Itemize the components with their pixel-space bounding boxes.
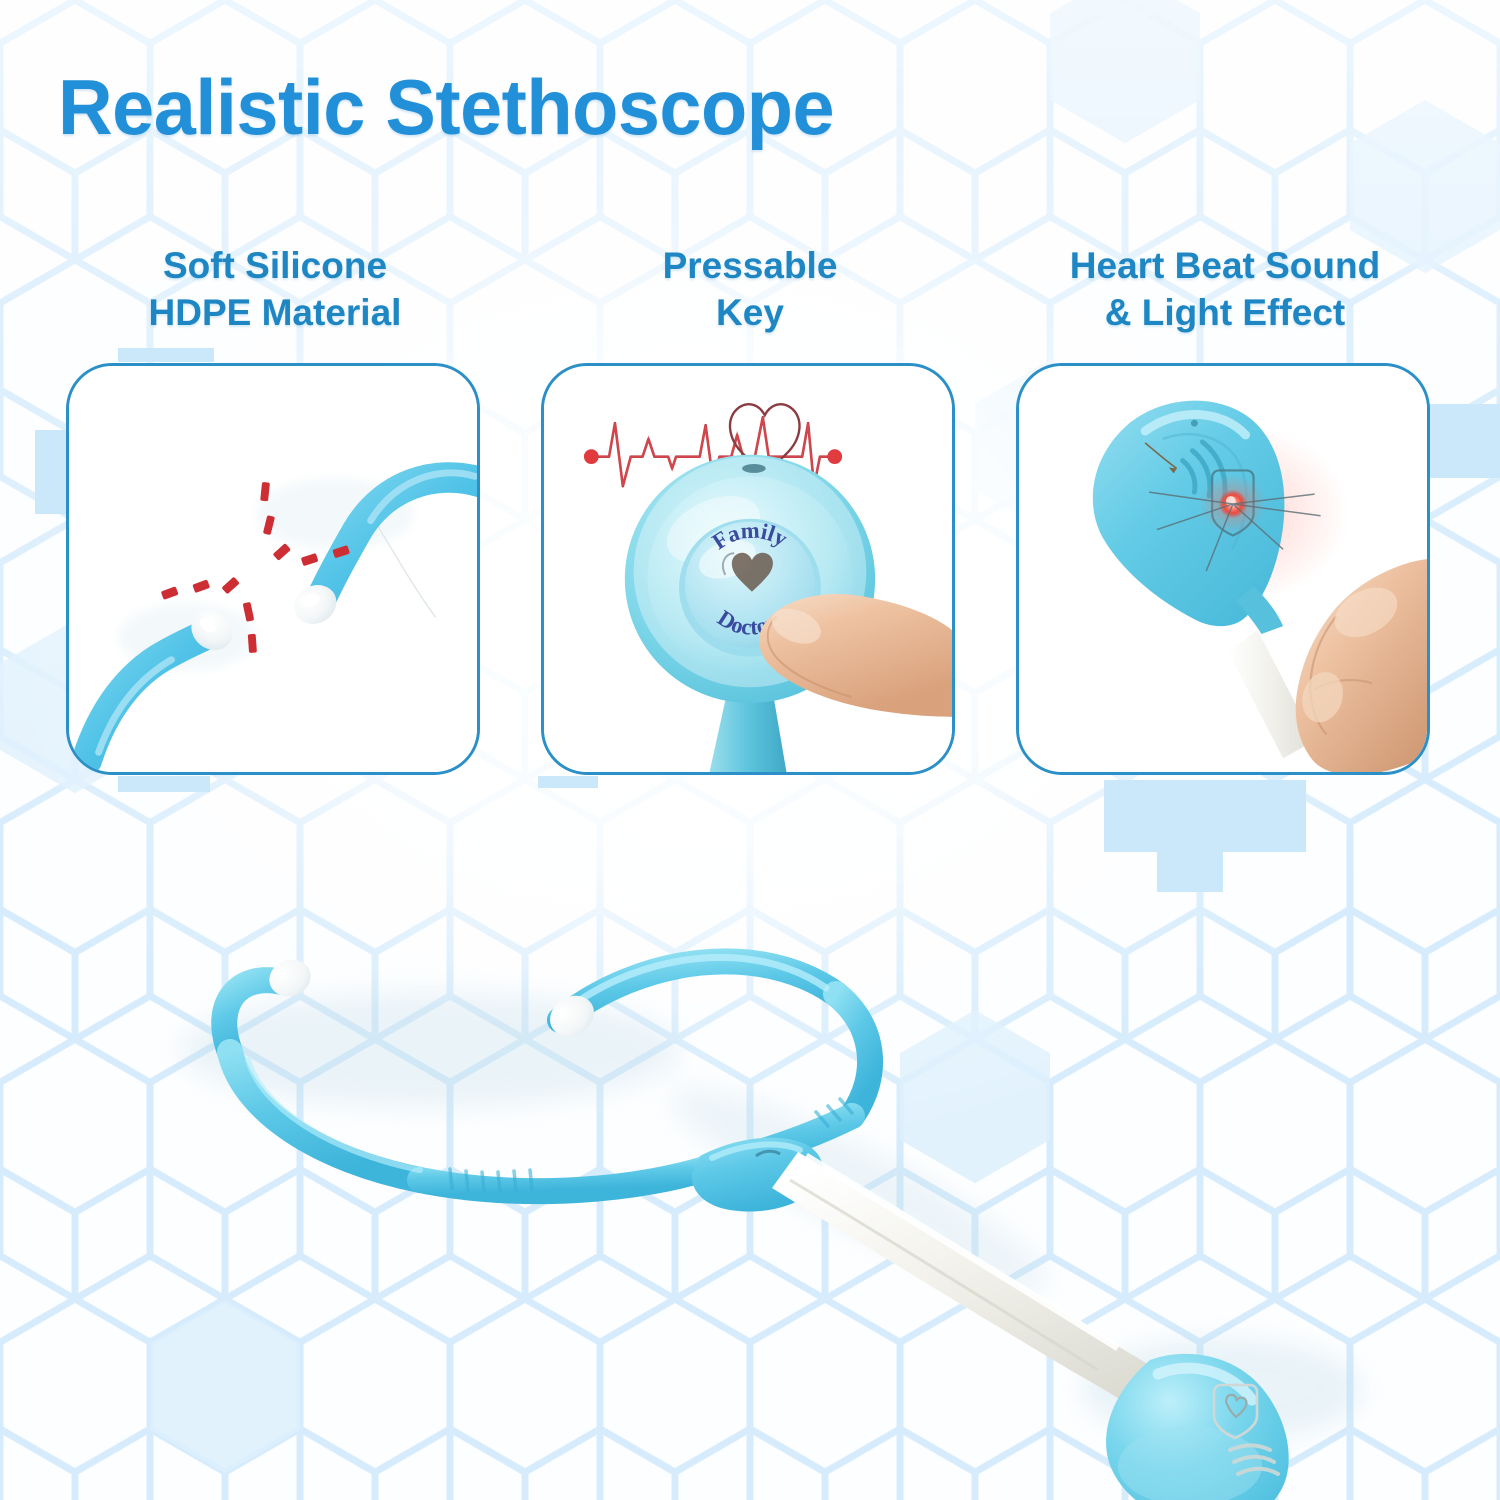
feature-label-pressable-key: Pressable Key bbox=[540, 243, 960, 336]
panel-3-illustration bbox=[1019, 366, 1427, 772]
stethoscope-product-photo bbox=[0, 760, 1500, 1500]
panel-1-illustration bbox=[69, 366, 477, 772]
feature-label-line-2: Key bbox=[540, 290, 960, 337]
feature-label-line-2: HDPE Material bbox=[60, 290, 490, 337]
panel-soft-silicone bbox=[66, 363, 480, 775]
stethoscope-tube bbox=[772, 1152, 1164, 1412]
panel-heartbeat-light bbox=[1016, 363, 1430, 775]
feature-label-line-1: Heart Beat Sound bbox=[1000, 243, 1450, 290]
feature-label-heartbeat-light: Heart Beat Sound & Light Effect bbox=[1000, 243, 1450, 336]
feature-label-line-2: & Light Effect bbox=[1000, 290, 1450, 337]
feature-label-line-1: Soft Silicone bbox=[60, 243, 490, 290]
feature-label-soft-silicone: Soft Silicone HDPE Material bbox=[60, 243, 490, 336]
infographic-canvas: Realistic Stethoscope Soft Silicone HDPE… bbox=[0, 0, 1500, 1500]
decor-tab-under-heading-1 bbox=[118, 348, 214, 362]
ecg-dot-right bbox=[827, 449, 842, 464]
feature-label-line-1: Pressable bbox=[540, 243, 960, 290]
decor-tab-right-panel-3 bbox=[1424, 404, 1500, 478]
hero-illustration bbox=[0, 760, 1500, 1500]
eartip-left bbox=[264, 954, 316, 1002]
panel-2-illustration: Family Doctor bbox=[544, 366, 952, 772]
page-title: Realistic Stethoscope bbox=[58, 62, 834, 153]
panel-pressable-key: Family Doctor bbox=[541, 363, 955, 775]
ecg-dot-left bbox=[584, 449, 599, 464]
